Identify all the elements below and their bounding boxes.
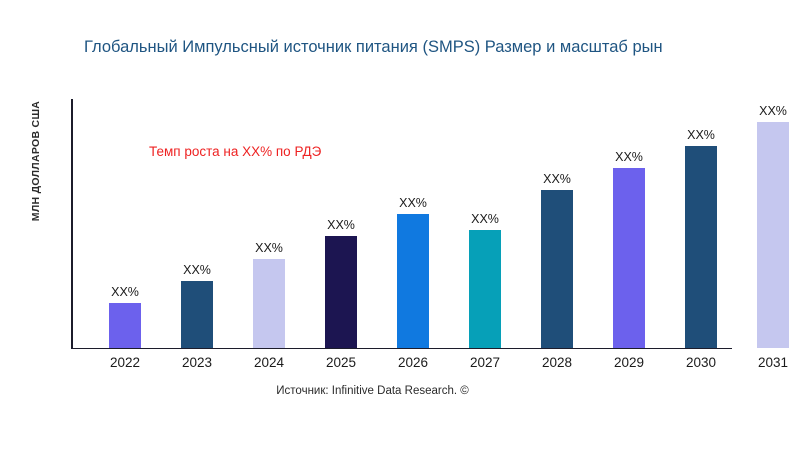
x-tick-2026: 2026 [383,355,443,370]
x-tick-2024: 2024 [239,355,299,370]
bar-2022[interactable] [109,303,141,348]
bar-group-2027[interactable]: XX% [469,99,501,348]
bar-group-2024[interactable]: XX% [253,99,285,348]
bar-value-label-2028: XX% [543,172,571,186]
chart-title: Глобальный Импульсный источник питания (… [84,36,800,58]
bar-group-2028[interactable]: XX% [541,99,573,348]
x-tick-2027: 2027 [455,355,515,370]
bar-group-2023[interactable]: XX% [181,99,213,348]
x-tick-2028: 2028 [527,355,587,370]
bar-value-label-2023: XX% [183,263,211,277]
bar-value-label-2026: XX% [399,196,427,210]
bar-2029[interactable] [613,168,645,348]
x-tick-2029: 2029 [599,355,659,370]
bar-value-label-2022: XX% [111,285,139,299]
bar-group-2026[interactable]: XX% [397,99,429,348]
bar-value-label-2030: XX% [687,128,715,142]
bar-value-label-2027: XX% [471,212,499,226]
bar-group-2025[interactable]: XX% [325,99,357,348]
bar-group-2031[interactable]: XX% [757,99,789,348]
bar-value-label-2031: XX% [759,104,787,118]
y-axis-label: МЛН ДОЛЛАРОВ США [30,61,42,261]
bar-value-label-2024: XX% [255,241,283,255]
chart-container: Глобальный Импульсный источник питания (… [0,0,800,450]
x-tick-2030: 2030 [671,355,731,370]
bar-2030[interactable] [685,146,717,348]
x-tick-2031: 2031 [743,355,800,370]
bar-2026[interactable] [397,214,429,348]
bar-2031[interactable] [757,122,789,348]
x-tick-2022: 2022 [95,355,155,370]
bar-2023[interactable] [181,281,213,348]
x-tick-2023: 2023 [167,355,227,370]
source-note: Источник: Infinitive Data Research. © [0,385,745,397]
bar-group-2029[interactable]: XX% [613,99,645,348]
bar-value-label-2025: XX% [327,218,355,232]
bar-2027[interactable] [469,230,501,348]
bar-2028[interactable] [541,190,573,348]
x-tick-2025: 2025 [311,355,371,370]
bar-2024[interactable] [253,259,285,348]
bar-2025[interactable] [325,236,357,348]
bar-group-2030[interactable]: XX% [685,99,717,348]
bar-group-2022[interactable]: XX% [109,99,141,348]
bar-value-label-2029: XX% [615,150,643,164]
plot-area: XX%XX%XX%XX%XX%XX%XX%XX%XX%XX% [71,99,800,348]
